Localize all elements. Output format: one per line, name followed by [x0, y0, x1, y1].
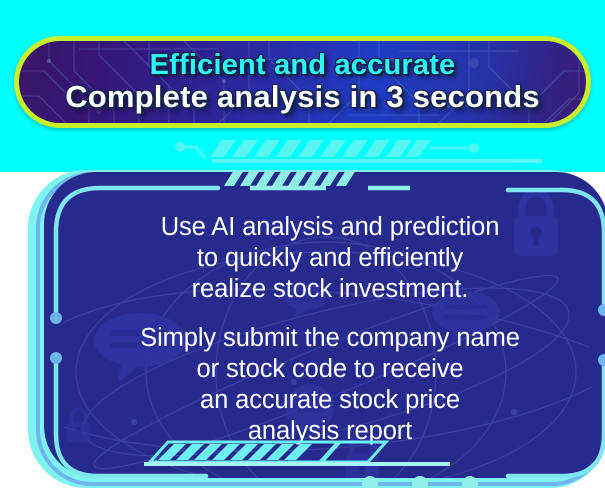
- p2-line-3: an accurate stock price: [80, 385, 580, 416]
- paragraph-2: Simply submit the company name or stock …: [80, 323, 580, 447]
- banner-text-group: Efficient and accurate Complete analysis…: [19, 41, 586, 123]
- p1-line-1: Use AI analysis and prediction: [80, 212, 580, 243]
- bottom-decoration: [140, 440, 470, 470]
- info-card: Use AI analysis and prediction to quickl…: [28, 156, 605, 488]
- banner-subtitle: Complete analysis in 3 seconds: [65, 81, 540, 113]
- p1-line-3: realize stock investment.: [80, 274, 580, 305]
- promo-banner-stage: Efficient and accurate Complete analysis…: [0, 0, 605, 488]
- banner-title: Efficient and accurate: [150, 51, 456, 81]
- bottom-stripes-svg: [140, 440, 470, 470]
- p2-line-1: Simply submit the company name: [80, 323, 580, 354]
- paragraph-1: Use AI analysis and prediction to quickl…: [80, 212, 580, 305]
- p2-line-2: or stock code to receive: [80, 354, 580, 385]
- headline-banner: Efficient and accurate Complete analysis…: [14, 36, 591, 128]
- card-body: Use AI analysis and prediction to quickl…: [44, 172, 605, 478]
- p1-line-2: to quickly and efficiently: [80, 243, 580, 274]
- card-text-block: Use AI analysis and prediction to quickl…: [80, 212, 580, 447]
